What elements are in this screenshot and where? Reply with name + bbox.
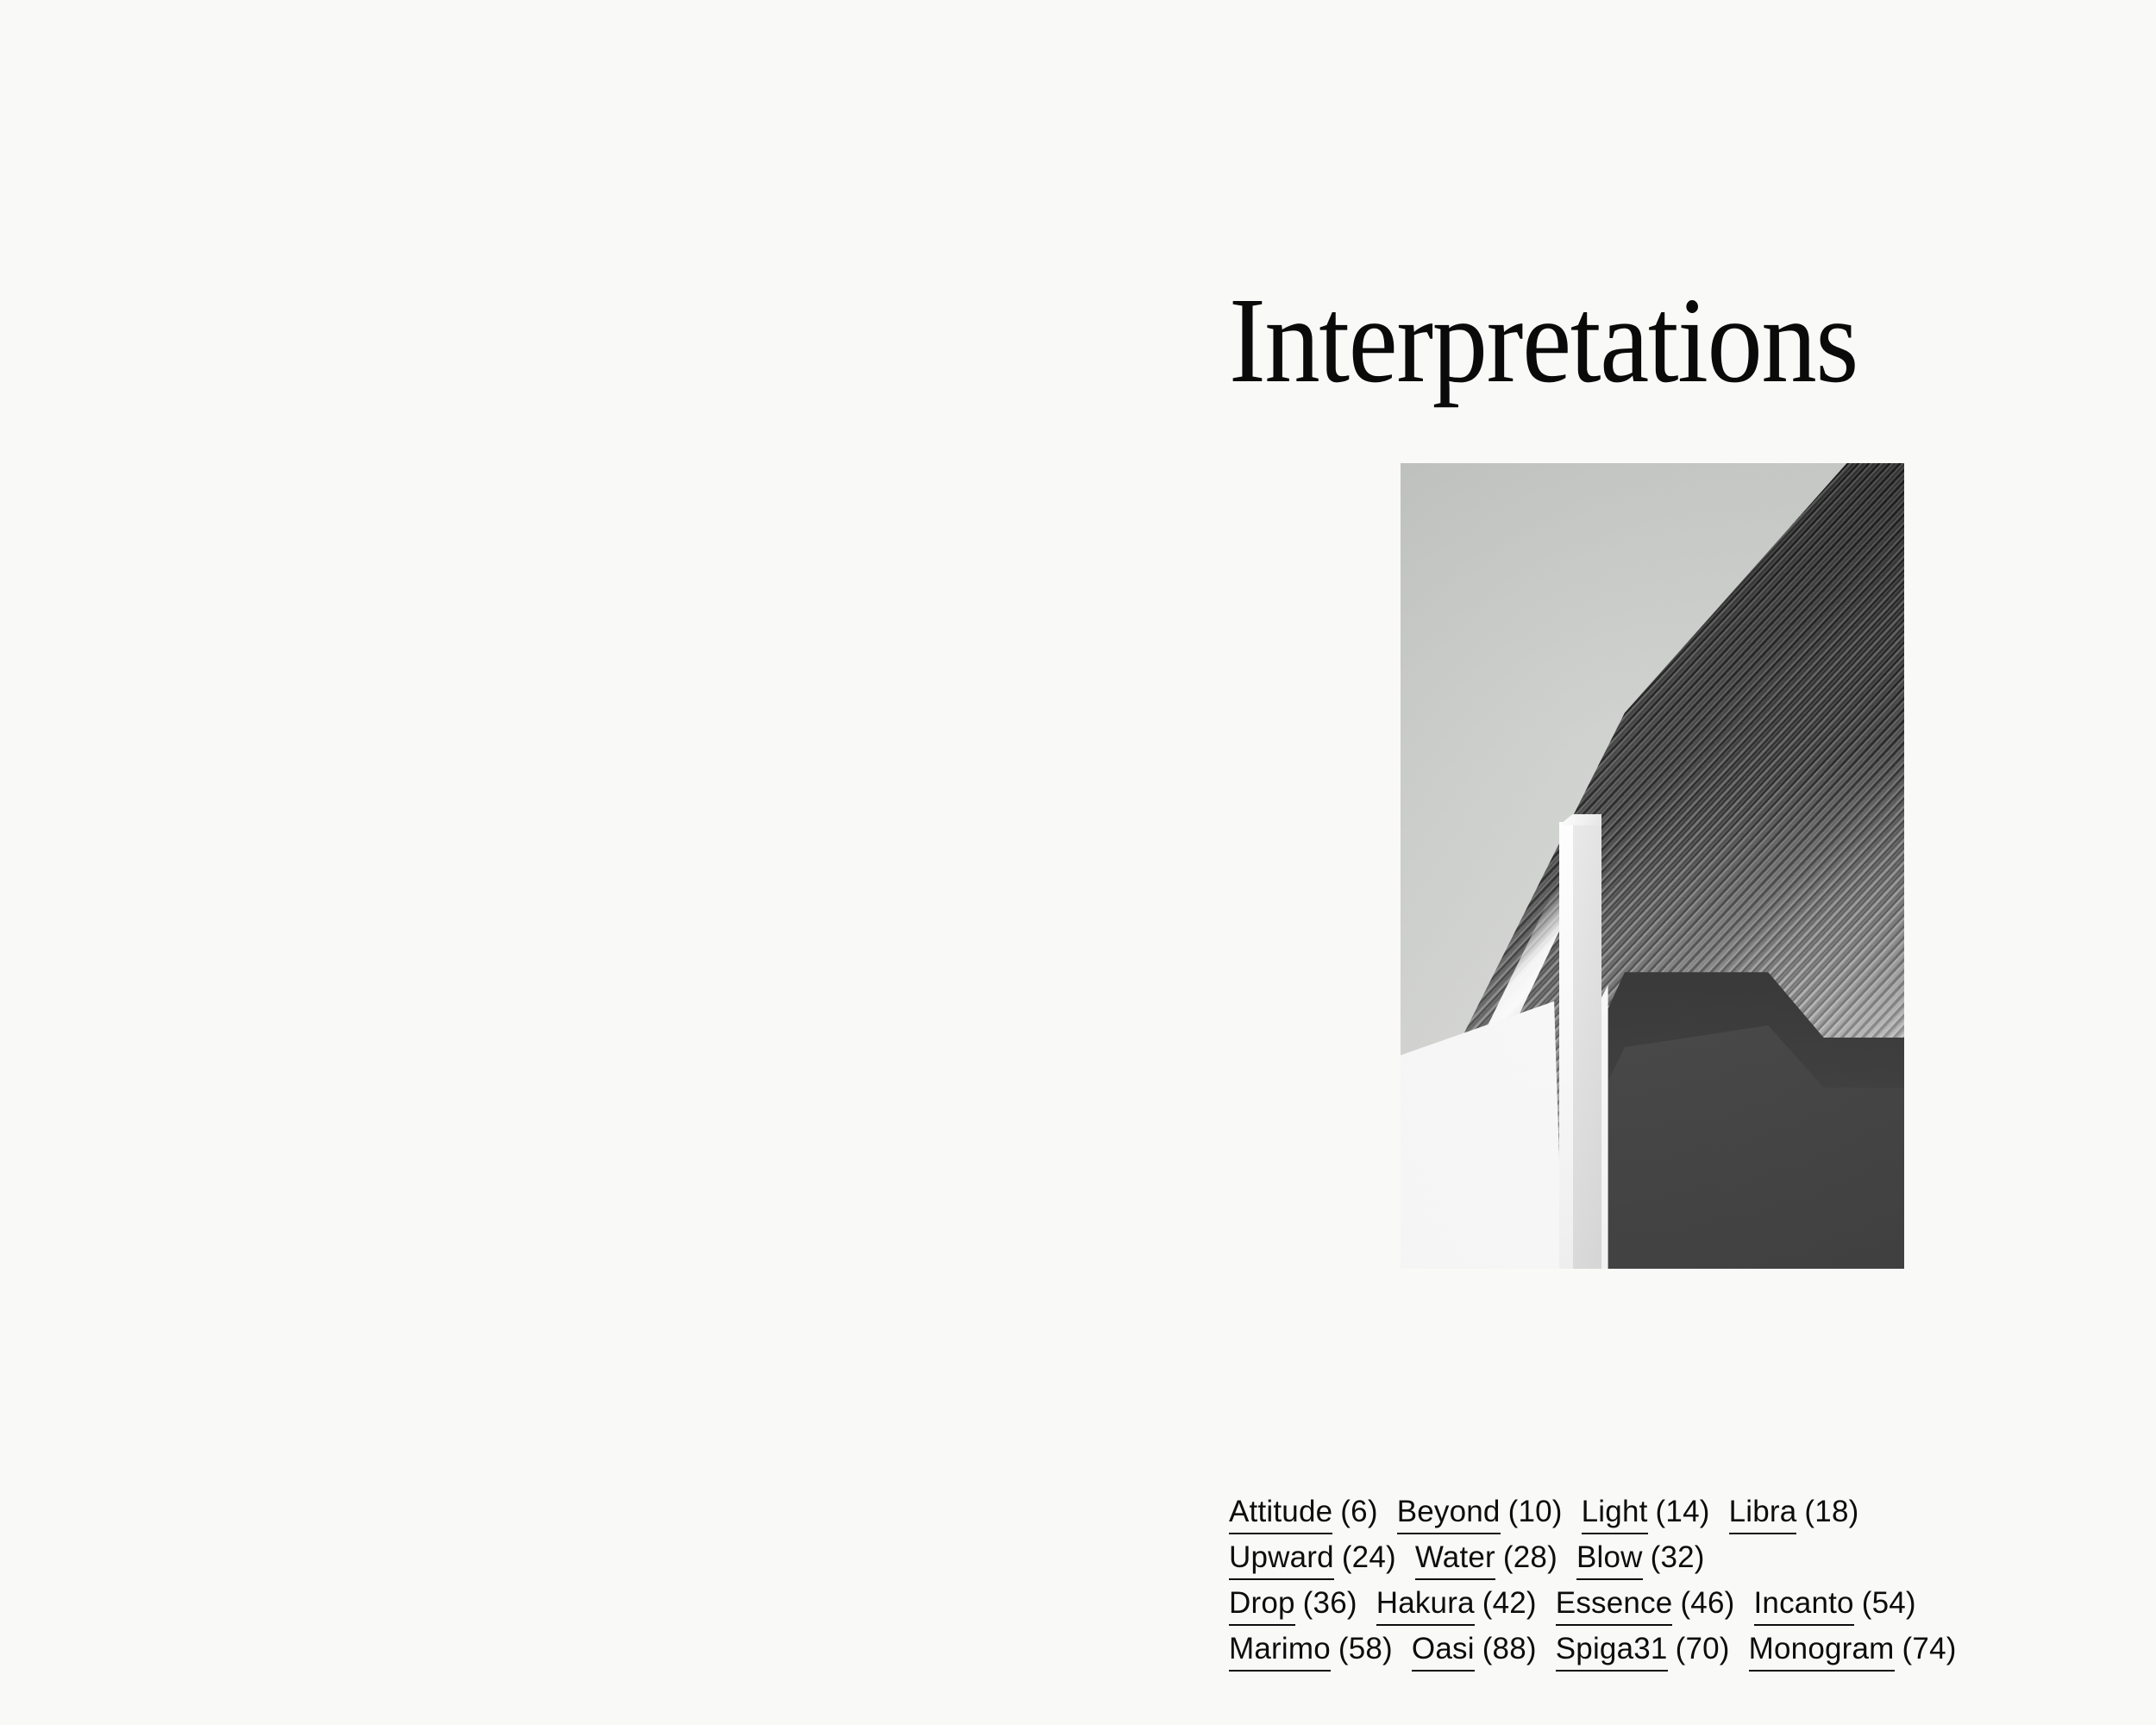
index-entry-name: Essence <box>1556 1586 1673 1626</box>
index-entry-spiga31[interactable]: Spiga31(70) <box>1556 1626 1730 1672</box>
index-entry-name: Drop <box>1229 1586 1295 1626</box>
index-entry-name: Oasi <box>1412 1632 1475 1672</box>
index-entry-name: Light <box>1582 1495 1648 1534</box>
index-entry-name: Attitude <box>1229 1495 1332 1534</box>
photo-column-right-face <box>1573 814 1601 1269</box>
index-list: Attitude(6)Beyond(10)Light(14)Libra(18)U… <box>1229 1489 2022 1672</box>
index-entry-name: Upward <box>1229 1540 1334 1580</box>
index-entry-hakura[interactable]: Hakura(42) <box>1376 1580 1537 1626</box>
page-canvas: Interpretations Attitude(6)Beyond(10)Lig… <box>0 0 2156 1725</box>
index-entry-oasi[interactable]: Oasi(88) <box>1412 1626 1537 1672</box>
index-row: Upward(24)Water(28)Blow(32) <box>1229 1534 2022 1580</box>
index-entry-upward[interactable]: Upward(24) <box>1229 1534 1396 1580</box>
index-entry-page: (46) <box>1672 1586 1734 1620</box>
index-entry-page: (42) <box>1475 1586 1537 1620</box>
index-entry-name: Incanto <box>1754 1586 1854 1626</box>
index-entry-name: Blow <box>1576 1540 1643 1580</box>
index-entry-page: (18) <box>1796 1495 1858 1528</box>
index-entry-water[interactable]: Water(28) <box>1415 1534 1557 1580</box>
index-entry-name: Marimo <box>1229 1632 1331 1672</box>
index-entry-name: Water <box>1415 1540 1495 1580</box>
index-entry-page: (24) <box>1334 1540 1396 1574</box>
index-entry-name: Monogram <box>1749 1632 1895 1672</box>
index-entry-essence[interactable]: Essence(46) <box>1556 1580 1735 1626</box>
index-entry-page: (74) <box>1895 1632 1957 1665</box>
page-title: Interpretations <box>1229 279 1932 401</box>
hero-photograph <box>1401 463 1904 1269</box>
index-entry-name: Beyond <box>1397 1495 1501 1534</box>
index-entry-page: (28) <box>1495 1540 1557 1574</box>
index-entry-marimo[interactable]: Marimo(58) <box>1229 1626 1393 1672</box>
index-row: Drop(36)Hakura(42)Essence(46)Incanto(54) <box>1229 1580 2022 1626</box>
index-entry-name: Hakura <box>1376 1586 1475 1626</box>
index-entry-page: (10) <box>1501 1495 1563 1528</box>
index-entry-page: (32) <box>1643 1540 1705 1574</box>
index-entry-page: (54) <box>1854 1586 1916 1620</box>
index-entry-page: (14) <box>1648 1495 1710 1528</box>
index-entry-name: Libra <box>1729 1495 1797 1534</box>
index-entry-drop[interactable]: Drop(36) <box>1229 1580 1357 1626</box>
index-entry-monogram[interactable]: Monogram(74) <box>1749 1626 1957 1672</box>
index-entry-incanto[interactable]: Incanto(54) <box>1754 1580 1916 1626</box>
index-entry-attitude[interactable]: Attitude(6) <box>1229 1489 1378 1534</box>
index-entry-page: (6) <box>1332 1495 1377 1528</box>
index-entry-beyond[interactable]: Beyond(10) <box>1397 1489 1563 1534</box>
index-row: Marimo(58)Oasi(88)Spiga31(70)Monogram(74… <box>1229 1626 2022 1672</box>
index-entry-libra[interactable]: Libra(18) <box>1729 1489 1859 1534</box>
index-entry-page: (70) <box>1668 1632 1730 1665</box>
photo-column-top-face <box>1559 814 1601 825</box>
index-entry-name: Spiga31 <box>1556 1632 1668 1672</box>
index-entry-page: (88) <box>1475 1632 1537 1665</box>
index-row: Attitude(6)Beyond(10)Light(14)Libra(18) <box>1229 1489 2022 1534</box>
photo-white-column <box>1559 814 1601 1269</box>
index-entry-light[interactable]: Light(14) <box>1582 1489 1710 1534</box>
index-entry-blow[interactable]: Blow(32) <box>1576 1534 1705 1580</box>
index-entry-page: (58) <box>1331 1632 1393 1665</box>
index-entry-page: (36) <box>1295 1586 1357 1620</box>
photo-column-left-face <box>1559 822 1573 1269</box>
